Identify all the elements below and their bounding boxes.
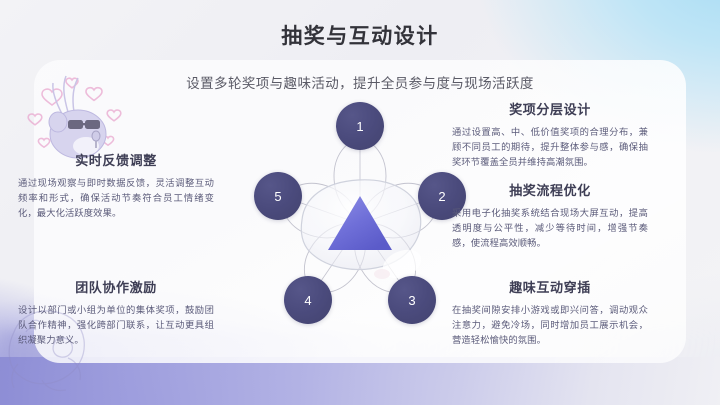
page-title: 抽奖与互动设计 bbox=[0, 20, 720, 50]
text-block-bottom-right: 趣味互动穿插 在抽奖间隙安排小游戏或即兴问答，调动观众注意力，避免冷场，同时增加… bbox=[452, 277, 648, 348]
node-number: 1 bbox=[356, 119, 363, 134]
diagram-node-1[interactable]: 1 bbox=[336, 102, 384, 150]
block-heading: 趣味互动穿插 bbox=[452, 277, 648, 296]
petal-diagram: 1 2 3 4 5 bbox=[232, 92, 488, 360]
node-number: 2 bbox=[438, 189, 445, 204]
diagram-node-3[interactable]: 3 bbox=[388, 276, 436, 324]
node-number: 3 bbox=[408, 293, 415, 308]
block-body: 在抽奖间隙安排小游戏或即兴问答，调动观众注意力，避免冷场，同时增加员工展示机会，… bbox=[452, 303, 648, 348]
text-block-bottom-left: 团队协作激励 设计以部门或小组为单位的集体奖项，鼓励团队合作精神，强化跨部门联系… bbox=[18, 277, 214, 348]
diagram-node-5[interactable]: 5 bbox=[254, 172, 302, 220]
block-heading: 抽奖流程优化 bbox=[452, 180, 648, 199]
block-body: 采用电子化抽奖系统结合现场大屏互动，提高透明度与公平性，减少等待时间，增强节奏感… bbox=[452, 206, 648, 251]
block-heading: 奖项分层设计 bbox=[452, 99, 648, 118]
block-body: 设计以部门或小组为单位的集体奖项，鼓励团队合作精神，强化跨部门联系，让互动更具组… bbox=[18, 303, 214, 348]
page-subtitle: 设置多轮奖项与趣味活动，提升全员参与度与现场活跃度 bbox=[0, 72, 720, 92]
text-block-top-left: 实时反馈调整 通过现场观察与即时数据反馈，灵活调整互动频率和形式，确保活动节奏符… bbox=[18, 150, 214, 221]
text-block-middle-right: 抽奖流程优化 采用电子化抽奖系统结合现场大屏互动，提高透明度与公平性，减少等待时… bbox=[452, 180, 648, 251]
block-body: 通过设置高、中、低价值奖项的合理分布，兼顾不同员工的期待，提升整体参与感，确保抽… bbox=[452, 125, 648, 170]
slide-background: 抽奖与互动设计 设置多轮奖项与趣味活动，提升全员参与度与现场活跃度 bbox=[0, 0, 720, 405]
diagram-node-4[interactable]: 4 bbox=[284, 276, 332, 324]
node-number: 5 bbox=[274, 189, 281, 204]
text-block-top-right: 奖项分层设计 通过设置高、中、低价值奖项的合理分布，兼顾不同员工的期待，提升整体… bbox=[452, 99, 648, 170]
block-heading: 团队协作激励 bbox=[18, 277, 214, 296]
block-heading: 实时反馈调整 bbox=[18, 150, 214, 169]
block-body: 通过现场观察与即时数据反馈，灵活调整互动频率和形式，确保活动节奏符合员工情绪变化… bbox=[18, 176, 214, 221]
node-number: 4 bbox=[304, 293, 311, 308]
